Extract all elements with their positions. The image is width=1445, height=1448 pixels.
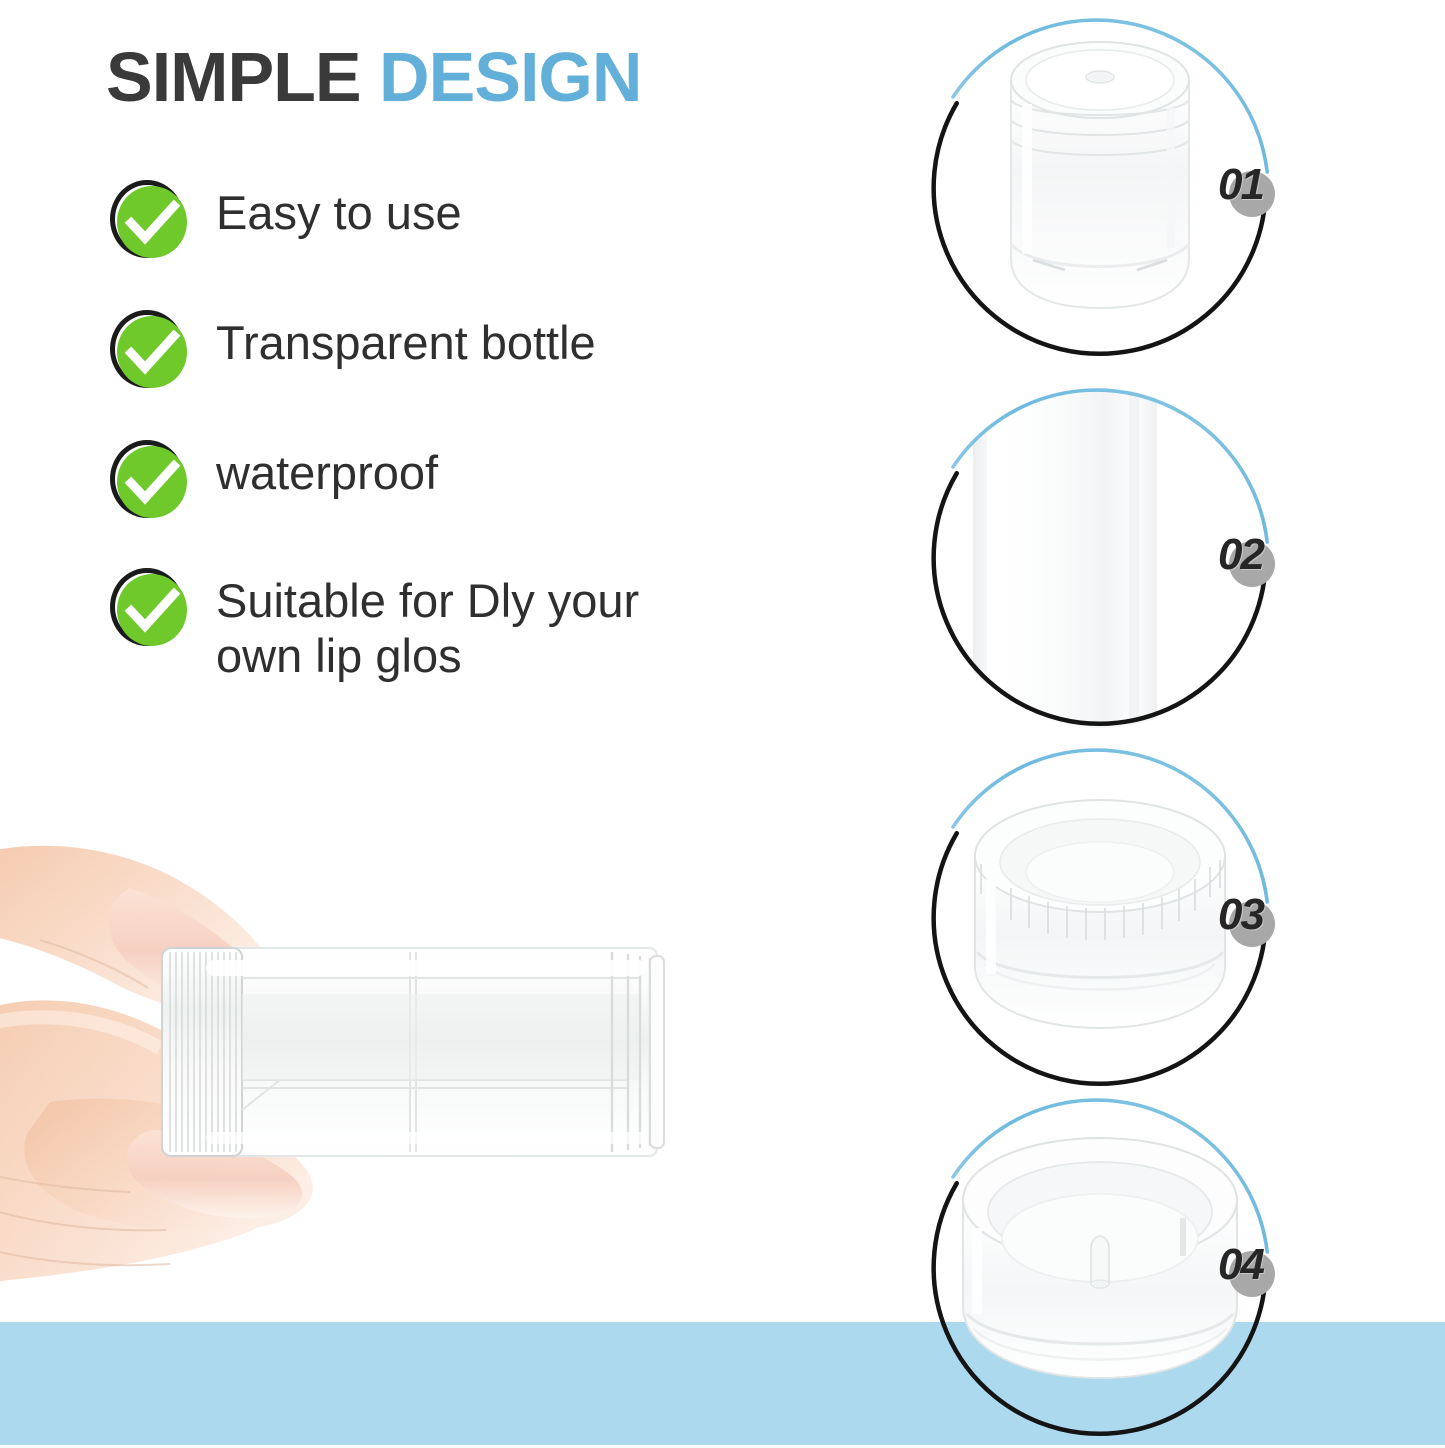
- callout-02: 02: [915, 378, 1285, 738]
- feature-item: Suitable for Dly your own lip glos: [108, 574, 808, 683]
- green-check-icon: [108, 310, 192, 394]
- green-check-icon: [108, 568, 192, 652]
- title-word-design: DESIGN: [379, 38, 641, 116]
- feature-label: waterproof: [216, 446, 438, 501]
- cap-interior-illustration: [963, 1138, 1237, 1378]
- callout-04: 04: [915, 1088, 1285, 1448]
- callout-number-03: 03: [1218, 890, 1263, 940]
- feature-list: Easy to use Transparent bottle waterproo…: [108, 186, 808, 735]
- green-check-icon: [108, 180, 192, 264]
- product-hand-photo: [0, 780, 920, 1400]
- lip-balm-tube: [162, 948, 664, 1156]
- title-word-simple: SIMPLE: [106, 38, 361, 116]
- callout-number-02: 02: [1218, 530, 1263, 580]
- ribbed-cap-illustration: [975, 800, 1225, 1028]
- callout-03: 03: [915, 738, 1285, 1098]
- callout-number-01: 01: [1218, 160, 1263, 210]
- callout-01: 01: [915, 8, 1285, 368]
- feature-item: waterproof: [108, 446, 808, 524]
- callout-number-04: 04: [1218, 1240, 1263, 1290]
- green-check-icon: [108, 440, 192, 524]
- page-title: SIMPLE DESIGN: [106, 42, 641, 112]
- feature-label: Transparent bottle: [216, 316, 596, 371]
- feature-item: Transparent bottle: [108, 316, 808, 394]
- feature-item: Easy to use: [108, 186, 808, 264]
- infographic-canvas: SIMPLE DESIGN Easy to use Transparent bo…: [0, 0, 1445, 1445]
- clear-jar-illustration: [1008, 42, 1192, 308]
- feature-label: Easy to use: [216, 186, 462, 241]
- feature-label: Suitable for Dly your own lip glos: [216, 574, 736, 683]
